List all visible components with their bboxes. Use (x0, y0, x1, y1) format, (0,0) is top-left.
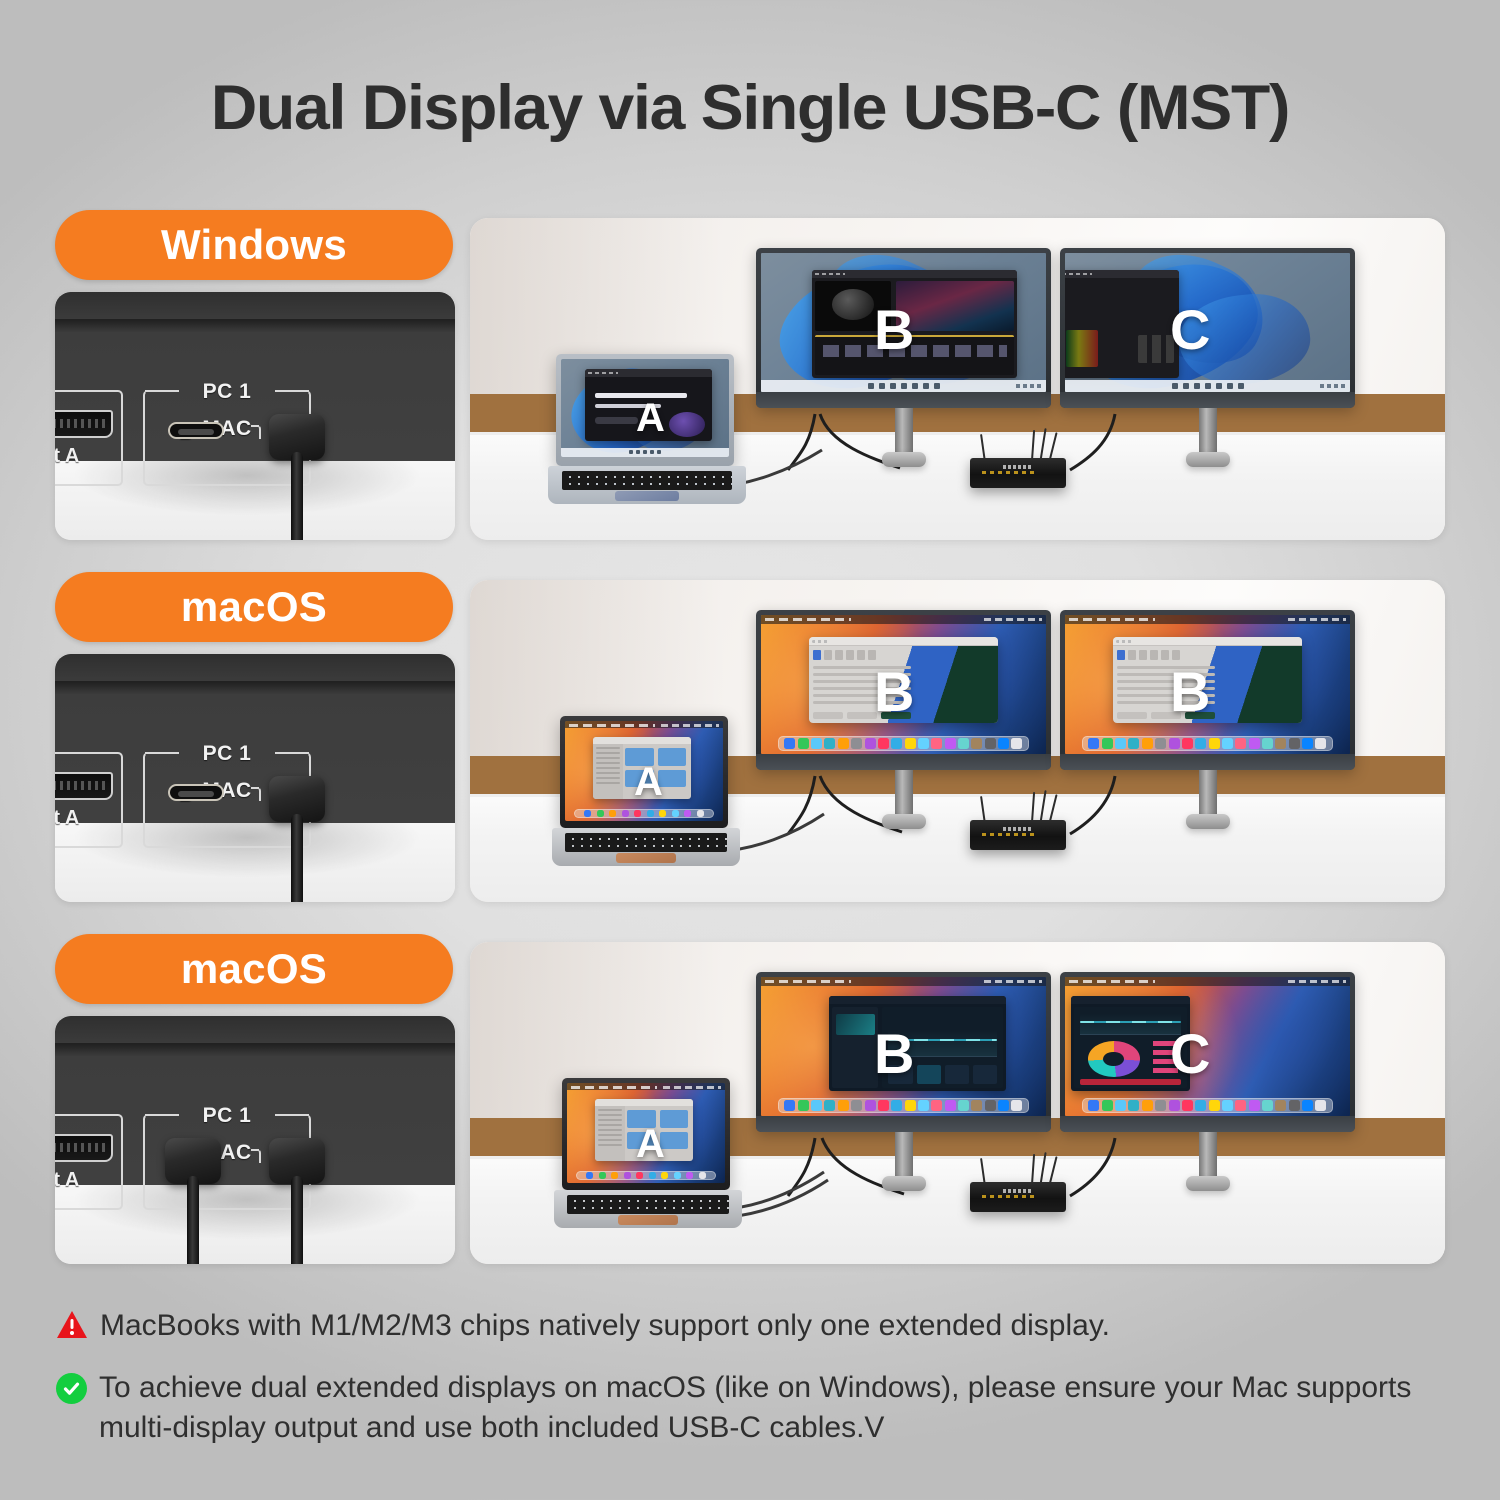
macos-menubar[interactable] (761, 977, 1046, 986)
pc1-label: PC 1 (150, 380, 304, 404)
page-title: Dual Display via Single USB-C (MST) (0, 72, 1500, 144)
laptop-trackpad[interactable] (616, 853, 676, 863)
laptop-macbook: A (552, 716, 740, 866)
output-a-group-outline (55, 752, 123, 848)
pc1-label: PC 1 (150, 1104, 304, 1128)
output-a-group-outline (55, 390, 123, 486)
usbc-port-b (168, 422, 224, 439)
toolbar-tiles[interactable] (813, 650, 876, 660)
taskbar-icons[interactable] (629, 450, 661, 454)
os-badge-macos-2: macOS (55, 934, 453, 1004)
check-circle-icon (56, 1373, 87, 1404)
window-titlebar (1071, 996, 1191, 1004)
macos-dock[interactable] (574, 809, 713, 818)
window-titlebar (585, 369, 713, 377)
sidebar[interactable] (593, 744, 622, 799)
label-letter-b: B (874, 1026, 914, 1082)
label-letter-a: A (634, 762, 663, 802)
monitor-chin (1060, 1116, 1355, 1132)
port-detail-macos-1: put A PC 1 MAC B A (55, 654, 455, 902)
os-badge-windows: Windows (55, 210, 453, 280)
alert-banner (1080, 1079, 1181, 1085)
usbc-plug-b (165, 1138, 221, 1184)
port-detail-windows: put A PC 1 MAC B A (55, 292, 455, 540)
warning-triangle-icon (56, 1310, 88, 1340)
window-titlebar (593, 737, 691, 744)
monitor-base (882, 1176, 926, 1191)
output-a-label: put A (55, 445, 79, 468)
displayport-port (55, 410, 113, 438)
scene-macos-extended: A B C (470, 942, 1445, 1264)
laptop-base (554, 1190, 742, 1228)
macos-menubar[interactable] (1065, 615, 1350, 624)
note-tip: To achieve dual extended displays on mac… (56, 1368, 1456, 1448)
port-detail-macos-2: put A PC 1 MAC B A (55, 1016, 455, 1264)
pc1-label: PC 1 (150, 742, 304, 766)
macos-dock[interactable] (1082, 736, 1333, 751)
monitor-stand (895, 770, 913, 814)
kvm-switch (970, 802, 1066, 854)
note-warning: MacBooks with M1/M2/M3 chips natively su… (56, 1306, 1456, 1346)
monitor-stand (895, 408, 913, 452)
monitor-chin (756, 392, 1051, 408)
displayport-port (55, 1134, 113, 1162)
macos-menubar[interactable] (565, 721, 723, 728)
macos-menubar[interactable] (761, 615, 1046, 624)
laptop-keyboard[interactable] (562, 471, 732, 491)
window-titlebar (809, 637, 997, 646)
output-a-label: put A (55, 807, 79, 830)
window-titlebar (595, 1099, 693, 1106)
footer-notes: MacBooks with M1/M2/M3 chips natively su… (56, 1306, 1456, 1471)
note-text: To achieve dual extended displays on mac… (99, 1368, 1456, 1448)
kvm-switch (970, 440, 1066, 492)
output-a-label: put A (55, 1169, 79, 1192)
label-letter-a: A (636, 398, 665, 438)
note-text: MacBooks with M1/M2/M3 chips natively su… (100, 1306, 1110, 1346)
window-titlebar (812, 270, 1017, 278)
laptop-trackpad[interactable] (618, 1215, 678, 1225)
macos-dock[interactable] (1082, 1098, 1333, 1113)
displayport-port (55, 772, 113, 800)
usbc-plug-a (269, 414, 325, 460)
monitor-base (882, 452, 926, 467)
video-editor-window (812, 270, 1017, 378)
editor-timeline-panel (815, 335, 1014, 375)
monitor-stand (1199, 408, 1217, 452)
kvm-body (970, 458, 1066, 488)
line-chart (1080, 1014, 1181, 1035)
monitor-stand (1199, 770, 1217, 814)
usbc-port-b (168, 784, 224, 801)
cta-button[interactable] (595, 417, 638, 424)
window-titlebar (1113, 637, 1301, 646)
editor-color-wheels (1138, 335, 1174, 363)
laptop-macbook: A (554, 1078, 742, 1228)
monitor-base (1186, 1176, 1230, 1191)
laptop-base (552, 828, 740, 866)
label-letter-c: C (1170, 1026, 1210, 1082)
monitor-chin (1060, 754, 1355, 770)
monitor-chin (756, 1116, 1051, 1132)
usbc-plug-a (269, 1138, 325, 1184)
monitor-base (1186, 452, 1230, 467)
label-letter-c: C (1170, 302, 1210, 358)
kvm-brand-logo (1003, 827, 1034, 831)
usbc-plug-a (269, 776, 325, 822)
system-tray[interactable] (1320, 384, 1346, 388)
macos-dock[interactable] (778, 736, 1029, 751)
monitor-stand (895, 1132, 913, 1176)
kvm-body (970, 820, 1066, 850)
window-titlebar (829, 996, 1006, 1004)
label-letter-b-right: B (1170, 664, 1210, 720)
monitor-chin (756, 754, 1051, 770)
taskbar-icons[interactable] (868, 383, 940, 389)
window-titlebar (1065, 270, 1179, 278)
taskbar-icons[interactable] (1172, 383, 1244, 389)
kvm-switch (970, 1164, 1066, 1216)
monitor-base (882, 814, 926, 829)
laptop-keyboard[interactable] (565, 833, 727, 853)
sidebar[interactable] (595, 1106, 624, 1161)
label-letter-b-left: B (874, 664, 914, 720)
editor-scope-panel (1066, 330, 1097, 367)
label-letter-b: B (874, 302, 914, 358)
output-a-group-outline (55, 1114, 123, 1210)
donut-chart (1088, 1041, 1140, 1076)
macos-menubar[interactable] (567, 1083, 725, 1090)
dashboard-sidebar[interactable] (832, 1007, 878, 1088)
os-badge-macos-1: macOS (55, 572, 453, 642)
monitor-base (1186, 814, 1230, 829)
windows-taskbar[interactable] (561, 448, 729, 457)
kvm-brand-logo (1003, 1189, 1034, 1193)
windows-taskbar[interactable] (761, 380, 1046, 392)
toolbar-tiles[interactable] (1117, 650, 1180, 660)
windows-taskbar[interactable] (1065, 380, 1350, 392)
macos-menubar[interactable] (1065, 977, 1350, 986)
macos-dock[interactable] (778, 1098, 1029, 1113)
kvm-brand-logo (1003, 465, 1034, 469)
laptop-keyboard[interactable] (567, 1195, 729, 1215)
laptop-base (548, 466, 746, 504)
system-tray[interactable] (1016, 384, 1042, 388)
label-letter-a: A (636, 1124, 665, 1164)
analytics-dashboard-window (829, 996, 1006, 1091)
scene-windows: A B C (470, 218, 1445, 540)
macos-dock[interactable] (576, 1171, 715, 1180)
monitor-chin (1060, 392, 1355, 408)
decorative-orb (669, 412, 705, 437)
scene-macos-mirror: A B B (470, 580, 1445, 902)
laptop-windows: A (548, 354, 746, 504)
video-editor-window-secondary (1065, 270, 1179, 378)
kvm-body (970, 1182, 1066, 1212)
laptop-trackpad[interactable] (615, 491, 678, 501)
monitor-stand (1199, 1132, 1217, 1176)
